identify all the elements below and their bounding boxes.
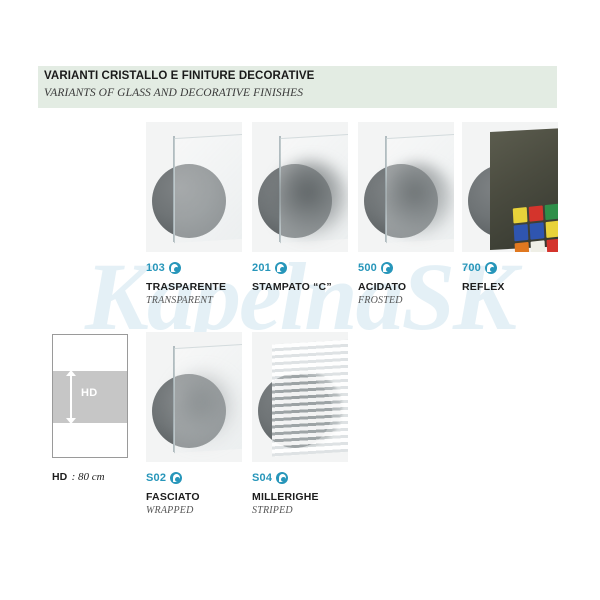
sample-image-103[interactable] xyxy=(146,122,242,252)
sample-code: 103 xyxy=(146,262,165,274)
sample-name-italian: ACIDATO xyxy=(358,281,406,293)
code-row: 700 xyxy=(462,260,505,276)
page-title-english: VARIANTS OF GLASS AND DECORATIVE FINISHE… xyxy=(44,87,303,99)
diffused-sphere-overlay xyxy=(172,374,234,444)
sample-scene xyxy=(462,122,558,252)
code-row: 201 xyxy=(252,260,332,276)
hd-caption: HD : 80 cm xyxy=(52,467,105,485)
swatch-circle-icon xyxy=(169,262,181,274)
sample-label-700: 700 REFLEX xyxy=(462,260,505,295)
sample-name-italian: REFLEX xyxy=(462,281,505,293)
swatch-circle-icon xyxy=(381,262,393,274)
code-row: 103 xyxy=(146,260,226,276)
sample-code: 201 xyxy=(252,262,271,274)
sample-code: 700 xyxy=(462,262,481,274)
sample-name-italian: TRASPARENTE xyxy=(146,281,226,293)
sample-image-S04[interactable] xyxy=(252,332,348,462)
sample-code: 500 xyxy=(358,262,377,274)
sample-label-500: 500 ACIDATO FROSTED xyxy=(358,260,406,306)
sample-image-700[interactable] xyxy=(462,122,558,252)
sample-name-english: FROSTED xyxy=(358,295,406,306)
sample-scene xyxy=(146,122,242,252)
swatch-circle-icon xyxy=(170,472,182,484)
sample-code: S04 xyxy=(252,472,272,484)
code-row: S04 xyxy=(252,470,319,486)
sample-name-english: TRANSPARENT xyxy=(146,295,226,306)
diffused-sphere-overlay xyxy=(274,160,348,240)
sample-label-S04: S04 MILLERIGHE STRIPED xyxy=(252,470,319,516)
diffused-sphere-overlay xyxy=(382,162,454,238)
sample-name-italian: MILLERIGHE xyxy=(252,491,319,503)
swatch-circle-icon xyxy=(485,262,497,274)
sample-scene xyxy=(252,122,348,252)
sample-label-103: 103 TRASPARENTE TRANSPARENT xyxy=(146,260,226,306)
page-title-italian: VARIANTI CRISTALLO E FINITURE DECORATIVE xyxy=(44,70,314,82)
sample-name-italian: FASCIATO xyxy=(146,491,200,503)
hd-caption-key: HD xyxy=(52,471,67,483)
striped-glass-pane xyxy=(272,340,348,457)
glass-pane xyxy=(174,134,242,243)
code-row: 500 xyxy=(358,260,406,276)
sample-label-S02: S02 FASCIATO WRAPPED xyxy=(146,470,200,516)
sample-code: S02 xyxy=(146,472,166,484)
color-swatch-grid xyxy=(513,204,558,252)
hd-diagram: HD xyxy=(52,334,128,458)
sample-name-english: STRIPED xyxy=(252,505,319,516)
sample-label-201: 201 STAMPATO “C” xyxy=(252,260,332,295)
code-row: S02 xyxy=(146,470,200,486)
sample-image-500[interactable] xyxy=(358,122,454,252)
hd-inner-label: HD xyxy=(81,387,98,399)
sample-image-S02[interactable] xyxy=(146,332,242,462)
hd-caption-value: : 80 cm xyxy=(72,471,105,483)
sample-name-english: WRAPPED xyxy=(146,505,200,516)
sample-scene xyxy=(252,332,348,462)
sample-image-201[interactable] xyxy=(252,122,348,252)
sample-scene xyxy=(358,122,454,252)
swatch-circle-icon xyxy=(276,472,288,484)
swatch-circle-icon xyxy=(275,262,287,274)
sample-name-italian: STAMPATO “C” xyxy=(252,281,332,293)
sample-scene xyxy=(146,332,242,462)
section-header-band: VARIANTI CRISTALLO E FINITURE DECORATIVE… xyxy=(38,66,557,108)
hd-measure-arrow-icon xyxy=(70,375,72,419)
